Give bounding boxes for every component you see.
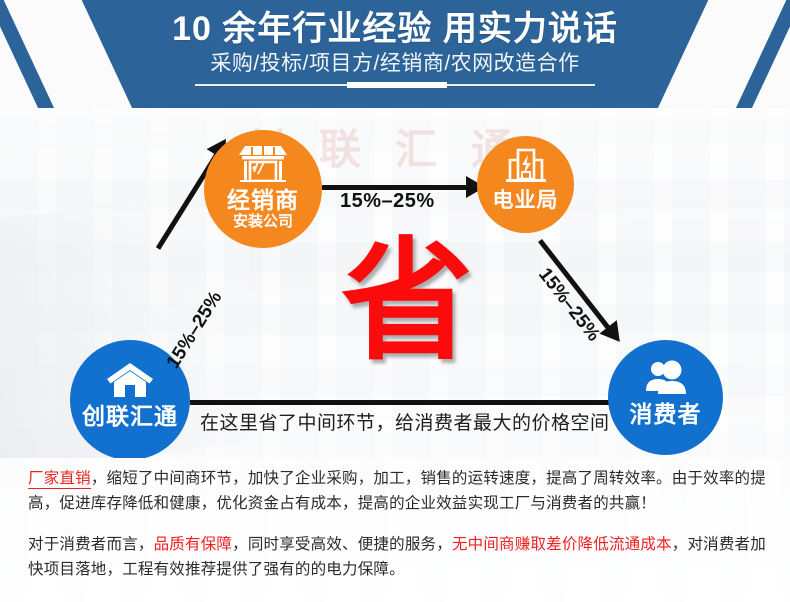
highlight-factory-direct: 厂家直销	[28, 470, 91, 489]
banner-subtitle: 采购/投标/项目方/经销商/农网改造合作	[0, 50, 790, 78]
infographic-page: 10 余年行业经验 用实力说话 采购/投标/项目方/经销商/农网改造合作 创联汇…	[0, 0, 790, 602]
users-icon	[608, 360, 723, 401]
description-paragraph-2: 对于消费者而言，品质有保障，同时享受高效、便捷的服务，无中间商赚取差价降低流通成…	[0, 516, 790, 582]
description-section: 厂家直销，缩短了中间商环节，加快了企业采购，加工，销售的运转速度，提高了周转效率…	[0, 458, 790, 602]
description-paragraph-2-middle: ，同时享受高效、便捷的服务，	[232, 536, 452, 553]
banner-divider	[195, 82, 595, 88]
banner-divider-thick	[347, 82, 447, 88]
banner-content: 10 余年行业经验 用实力说话 采购/投标/项目方/经销商/农网改造合作	[0, 0, 790, 108]
description-paragraph-1-text: ，缩短了中间商环节，加快了企业采购，加工，销售的运转速度，提高了周转效率。由于效…	[28, 470, 766, 512]
node-dealer-sublabel: 安装公司	[233, 213, 293, 230]
node-consumer-label: 消费者	[630, 401, 702, 427]
description-paragraph-2-lead: 对于消费者而言，	[28, 536, 154, 553]
flow-diagram: 创联汇通 省 15%–25% 15%–25% 15%–25% 在这里省了中间环节…	[0, 108, 790, 458]
house-icon	[70, 362, 190, 403]
node-power-bureau[interactable]: 电业局	[477, 136, 574, 233]
save-character: 省	[332, 236, 482, 368]
node-power-bureau-label: 电业局	[493, 189, 559, 212]
power-building-icon	[477, 148, 574, 189]
arrow-brand-to-consumer-line	[190, 400, 620, 405]
node-brand-label: 创联汇通	[82, 403, 178, 429]
brand-watermark: 创联汇通	[0, 116, 790, 177]
highlight-quality-guarantee: 品质有保障	[154, 536, 233, 553]
node-dealer[interactable]: 经销商 安装公司	[204, 130, 322, 248]
highlight-no-middleman: 无中间商赚取差价降低流通成本	[452, 536, 672, 553]
node-dealer-label: 经销商	[227, 187, 299, 213]
header-banner: 10 余年行业经验 用实力说话 采购/投标/项目方/经销商/农网改造合作	[0, 0, 790, 108]
node-consumer[interactable]: 消费者	[608, 340, 723, 455]
banner-title: 10 余年行业经验 用实力说话	[0, 8, 790, 50]
arrow-label-brand-to-consumer: 在这里省了中间环节，给消费者最大的价格空间	[200, 408, 610, 435]
storefront-icon	[204, 144, 322, 187]
arrow-label-dealer-to-bureau: 15%–25%	[340, 190, 435, 213]
description-paragraph-1: 厂家直销，缩短了中间商环节，加快了企业采购，加工，销售的运转速度，提高了周转效率…	[0, 458, 790, 516]
